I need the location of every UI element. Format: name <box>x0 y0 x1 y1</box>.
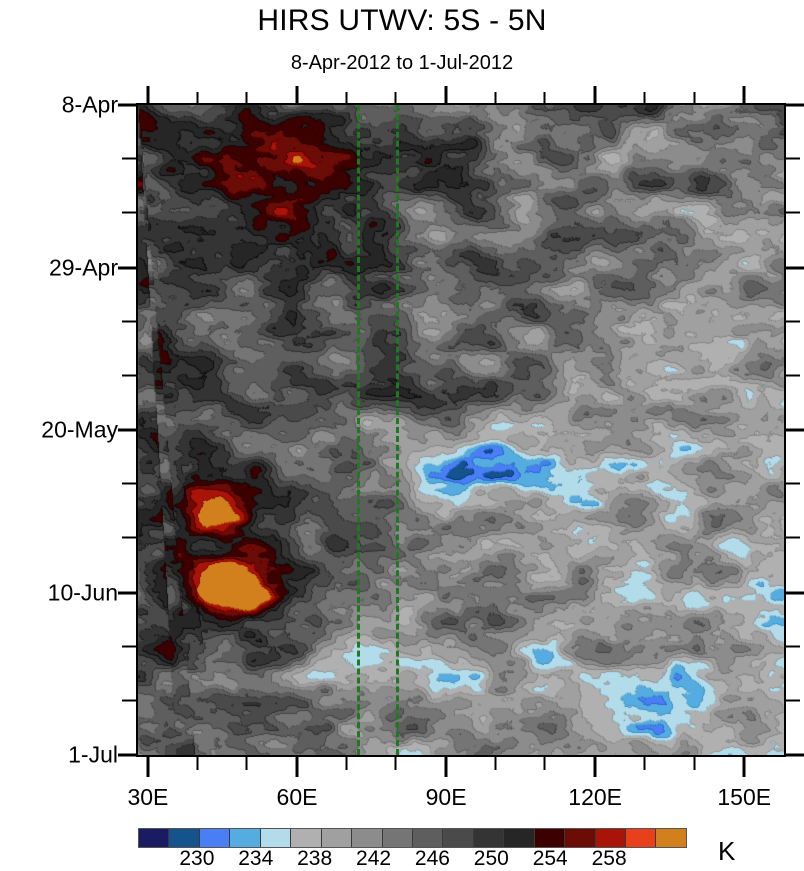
colorbar-swatch-10 <box>443 829 473 847</box>
y-tick-major-1 <box>118 266 136 269</box>
y-tick-minor <box>122 483 136 485</box>
contour-field <box>138 105 784 755</box>
hovmoller-plot-area <box>136 103 786 757</box>
figure-root: HIRS UTWV: 5S - 5N 8-Apr-2012 to 1-Jul-2… <box>0 0 804 869</box>
x-tick-minor-bottom <box>494 757 496 770</box>
x-axis-longitude: 30E60E90E120E150E <box>0 760 804 820</box>
x-tick-label-3: 120E <box>568 784 622 811</box>
x-tick-major-top-0 <box>146 86 149 104</box>
y-tick-label-3: 10-Jun <box>48 579 118 606</box>
colorbar-tick-7: 258 <box>592 847 627 871</box>
y-tick-minor <box>122 374 136 376</box>
x-tick-minor-bottom <box>544 757 546 770</box>
x-tick-minor-bottom <box>246 757 248 770</box>
y-tick-major-0-r <box>786 104 804 107</box>
y-tick-label-0: 8-Apr <box>62 92 118 119</box>
y-tick-major-2 <box>118 429 136 432</box>
y-tick-minor <box>122 537 136 539</box>
y-axis-date: 8-Apr29-Apr20-May10-Jun1-Jul <box>0 103 126 757</box>
x-tick-minor-top <box>643 92 645 104</box>
y-tick-minor <box>122 699 136 701</box>
y-tick-minor <box>122 645 136 647</box>
colorbar-swatch-5 <box>291 829 321 847</box>
y-tick-minor <box>786 158 800 160</box>
colorbar-tick-6: 254 <box>533 847 568 871</box>
x-tick-major-top-1 <box>296 86 299 104</box>
colorbar-tick-4: 246 <box>415 847 450 871</box>
x-tick-minor-top <box>345 92 347 104</box>
figure-title: HIRS UTWV: 5S - 5N <box>0 4 804 38</box>
x-tick-major-top-2 <box>445 86 448 104</box>
colorbar-tick-0: 230 <box>179 847 214 871</box>
x-tick-major-bottom-4 <box>743 757 746 777</box>
y-tick-minor <box>786 212 800 214</box>
y-tick-label-1: 29-Apr <box>49 254 118 281</box>
colorbar-swatch-6 <box>322 829 352 847</box>
colorbar-tick-1: 234 <box>238 847 273 871</box>
x-tick-major-bottom-3 <box>594 757 597 777</box>
colorbar-tick-5: 250 <box>474 847 509 871</box>
colorbar-swatch-15 <box>596 829 626 847</box>
colorbar-swatch-12 <box>504 829 534 847</box>
colorbar-swatch-13 <box>535 829 565 847</box>
x-tick-label-1: 60E <box>277 784 318 811</box>
colorbar-swatch-16 <box>626 829 656 847</box>
colorbar-swatch-17 <box>656 829 685 847</box>
x-tick-major-bottom-1 <box>296 757 299 777</box>
x-tick-minor-bottom <box>395 757 397 770</box>
y-tick-major-4-r <box>786 754 804 757</box>
colorbar-swatch-7 <box>352 829 382 847</box>
x-tick-major-top-4 <box>743 86 746 104</box>
colorbar-swatch-4 <box>261 829 291 847</box>
colorbar-units-label: K <box>718 836 735 867</box>
x-tick-minor-bottom <box>693 757 695 770</box>
y-tick-label-2: 20-May <box>41 417 118 444</box>
x-tick-major-bottom-0 <box>146 757 149 777</box>
colorbar-swatch-14 <box>565 829 595 847</box>
x-tick-major-bottom-2 <box>445 757 448 777</box>
y-tick-minor <box>122 212 136 214</box>
y-tick-minor <box>786 483 800 485</box>
x-tick-minor-top <box>246 92 248 104</box>
x-tick-minor-bottom <box>643 757 645 770</box>
x-tick-minor-top <box>494 92 496 104</box>
green-dashed-line-east <box>396 105 399 755</box>
x-tick-minor-top <box>395 92 397 104</box>
y-tick-major-1-r <box>786 266 804 269</box>
x-tick-minor-top <box>544 92 546 104</box>
x-tick-label-0: 30E <box>127 784 168 811</box>
y-tick-minor <box>786 645 800 647</box>
y-tick-major-0 <box>118 104 136 107</box>
colorbar-swatch-1 <box>169 829 199 847</box>
x-tick-major-top-3 <box>594 86 597 104</box>
colorbar-swatch-2 <box>200 829 230 847</box>
y-tick-major-4 <box>118 754 136 757</box>
y-tick-minor <box>122 320 136 322</box>
y-tick-minor <box>786 320 800 322</box>
x-tick-minor-bottom <box>196 757 198 770</box>
colorbar-tick-3: 242 <box>356 847 391 871</box>
colorbar-swatch-0 <box>139 829 169 847</box>
y-tick-major-3-r <box>786 591 804 594</box>
colorbar-swatch-3 <box>230 829 260 847</box>
figure-subtitle: 8-Apr-2012 to 1-Jul-2012 <box>0 52 804 75</box>
colorbar-swatch-9 <box>413 829 443 847</box>
colorbar <box>138 828 687 848</box>
green-dashed-line-west <box>357 105 360 755</box>
x-tick-minor-top <box>693 92 695 104</box>
y-tick-minor <box>786 537 800 539</box>
y-tick-minor <box>786 374 800 376</box>
x-tick-label-4: 150E <box>717 784 771 811</box>
y-tick-major-3 <box>118 591 136 594</box>
y-tick-minor <box>122 158 136 160</box>
x-tick-label-2: 90E <box>426 784 467 811</box>
y-tick-minor <box>786 699 800 701</box>
x-tick-minor-top <box>196 92 198 104</box>
x-tick-minor-bottom <box>345 757 347 770</box>
y-tick-major-2-r <box>786 429 804 432</box>
colorbar-swatch-11 <box>474 829 504 847</box>
colorbar-tick-2: 238 <box>297 847 332 871</box>
colorbar-swatch-8 <box>383 829 413 847</box>
